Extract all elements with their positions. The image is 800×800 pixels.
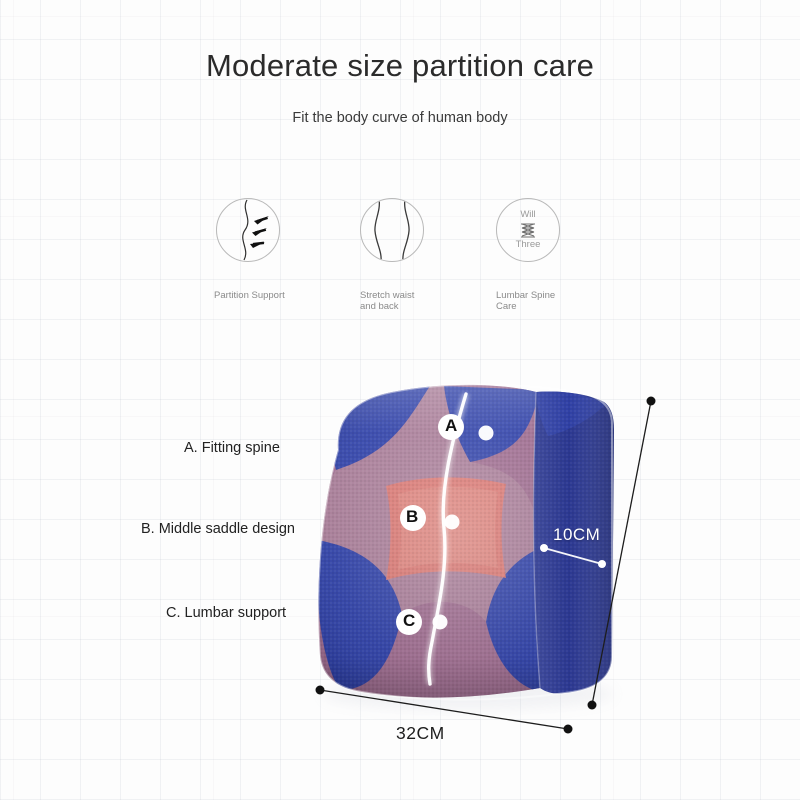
marker-letter-a: A [445, 416, 457, 436]
cushion-front-face [300, 370, 620, 720]
cushion-zone-bottom-right-blue [486, 548, 544, 692]
spring-coil-icon: Will Three [496, 198, 560, 262]
width-dimension-label: 32CM [396, 723, 445, 744]
marker-letter-c: C [403, 611, 415, 631]
annotation-label-c: C. Lumbar support [166, 605, 286, 621]
spine-node-a [479, 426, 494, 441]
feature-caption: Stretch waist and back [360, 290, 480, 312]
spine-curve [429, 394, 466, 684]
annotation-label-a: A. Fitting spine [184, 440, 280, 456]
cushion-zone-top-right-blue [444, 386, 540, 462]
spine-node-b [445, 515, 460, 530]
feature-item-partition-support: Partition Support [196, 198, 346, 262]
cushion-zone-mid-mauve [318, 386, 540, 622]
cushion-side-panel [520, 370, 630, 720]
spine-arrows-icon [216, 198, 280, 262]
depth-dimension-line [540, 544, 606, 568]
spine-node-c [433, 615, 448, 630]
depth-dimension-label: 10CM [553, 525, 600, 545]
depth-guide-line [588, 397, 656, 710]
page-subtitle: Fit the body curve of human body [0, 110, 800, 126]
cushion-zone-center-salmon [386, 477, 506, 580]
feature-item-stretch-waist: Stretch waist and back [338, 198, 488, 262]
annotation-label-b: B. Middle saddle design [141, 521, 295, 537]
cushion-zone-bottom-left-blue [317, 540, 402, 690]
marker-letter-b: B [406, 507, 418, 527]
torso-waist-icon [360, 198, 424, 262]
feature-caption: Lumbar Spine Care [496, 290, 616, 312]
icon-inner-bottom-text: Three [497, 239, 559, 250]
cushion-seam [534, 392, 541, 688]
feature-item-lumbar-spine-care: Will Three Lumbar Spine Care [481, 198, 631, 262]
page-title: Moderate size partition care [0, 48, 800, 84]
feature-list: Partition Support Stretch waist and back… [196, 198, 616, 318]
feature-caption: Partition Support [214, 290, 344, 301]
cushion-zone-top-left-blue [328, 386, 430, 470]
product-infographic: Moderate size partition care Fit the bod… [0, 0, 800, 800]
